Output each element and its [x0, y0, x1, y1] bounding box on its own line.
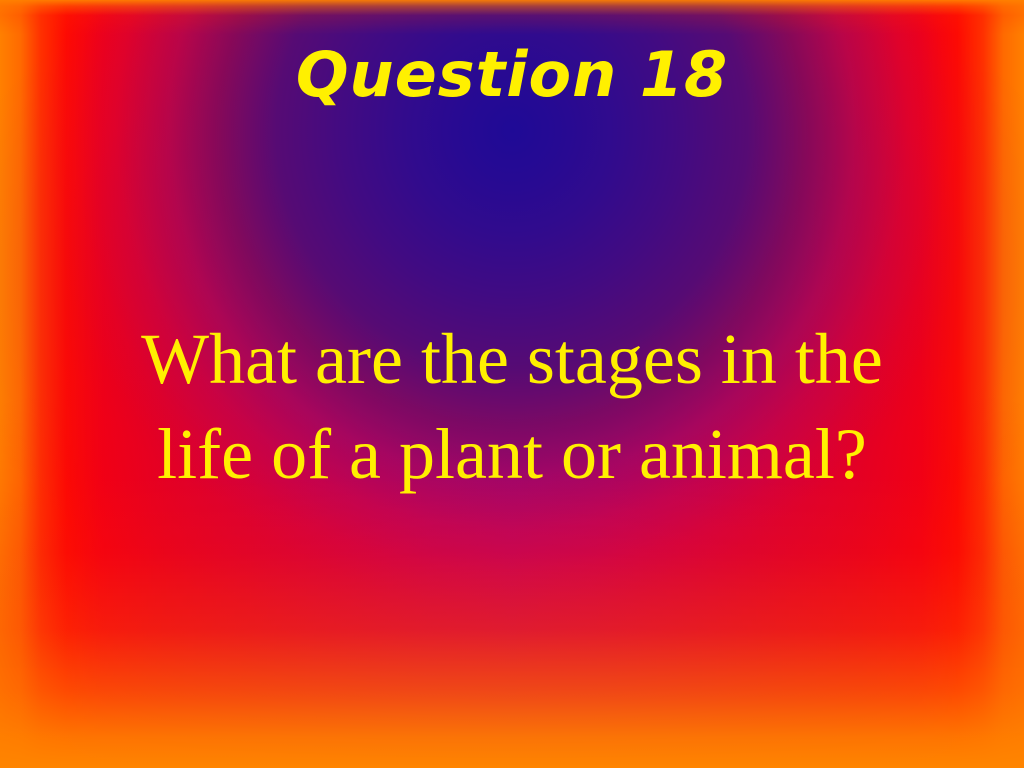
question-text: What are the stages in the life of a pla…	[64, 312, 960, 502]
question-line-1: What are the stages in the	[64, 312, 960, 407]
slide-content: Question 18 What are the stages in the l…	[0, 0, 1024, 768]
question-slide: Question 18 What are the stages in the l…	[0, 0, 1024, 768]
slide-title: Question 18	[0, 44, 1024, 106]
question-line-2: life of a plant or animal?	[64, 407, 960, 502]
